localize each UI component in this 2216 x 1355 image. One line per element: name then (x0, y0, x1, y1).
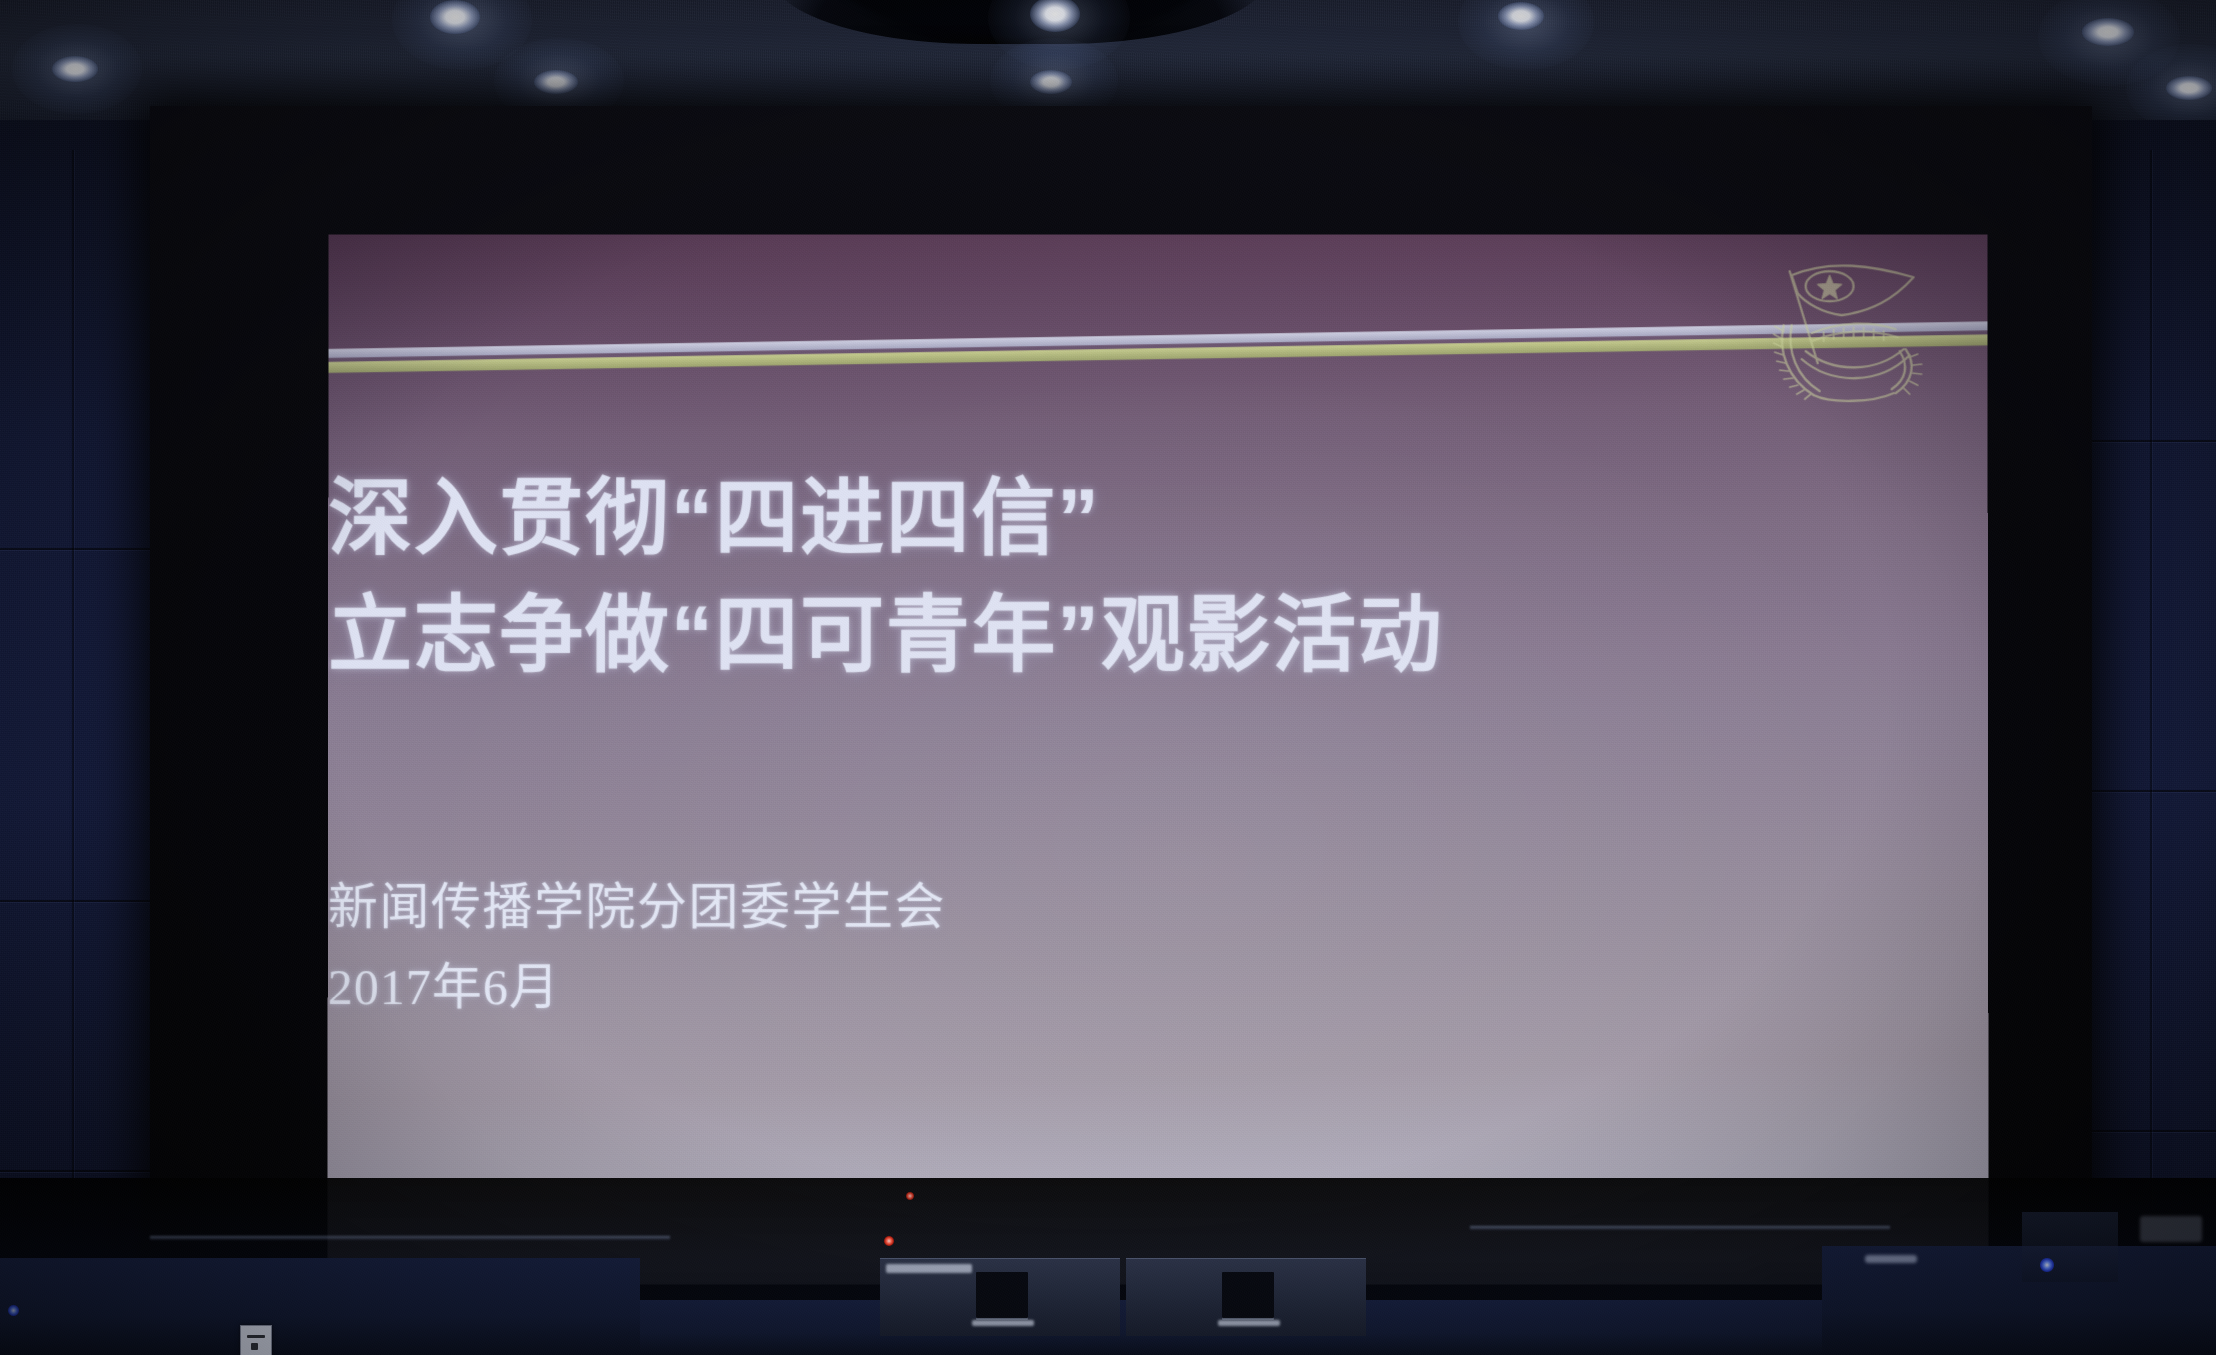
console-base-sheen (1218, 1320, 1280, 1326)
wall-seam (0, 1170, 152, 1172)
wall-switch-plate[interactable] (240, 1325, 272, 1355)
console-base-sheen (972, 1320, 1034, 1326)
switch-plate-slot (247, 1335, 265, 1338)
wall-seam (2092, 790, 2216, 792)
auditorium-photo: 深入贯彻“四进四信” 立志争做“四可青年”观影活动 新闻传播学院分团委学生会 2… (0, 0, 2216, 1355)
console-vent (1222, 1272, 1274, 1318)
wall-seam (0, 548, 152, 550)
communist-youth-league-emblem-icon (1767, 255, 1931, 405)
red-status-led (906, 1192, 914, 1200)
slide-title-block: 深入贯彻“四进四信” 立志争做“四可青年”观影活动 (328, 460, 1988, 695)
ribbon-band-olive (327, 334, 1988, 374)
slide-date: 2017年6月 (328, 947, 1989, 1019)
stage-speaker (2022, 1212, 2118, 1282)
projection-screen-surface: 深入贯彻“四进四信” 立志争做“四可青年”观影活动 新闻传播学院分团委学生会 2… (327, 234, 1988, 1284)
stage-skirt-left (0, 1258, 640, 1355)
wall-seam (0, 900, 152, 902)
screen-grain (327, 234, 1988, 1284)
switch-plate-slot (251, 1343, 258, 1350)
screen-hotspot (327, 234, 1988, 1284)
slide-byline-block: 新闻传播学院分团委学生会 2017年6月 (328, 869, 1989, 1019)
console-vent (976, 1272, 1028, 1318)
wall-seam (72, 150, 74, 1230)
slide-title-line-1: 深入贯彻“四进四信” (328, 460, 1988, 578)
red-status-led (884, 1236, 894, 1246)
projection-screen-frame: 深入贯彻“四进四信” 立志争做“四可青年”观影活动 新闻传播学院分团委学生会 2… (150, 106, 2092, 1322)
wall-seam (2092, 440, 2216, 442)
wall-seam (2150, 150, 2152, 1210)
ribbon-band-gap (327, 330, 1988, 363)
av-console-right[interactable] (1126, 1258, 1366, 1336)
wall-seam (2092, 1130, 2216, 1132)
ribbon-band-light (327, 321, 1988, 359)
slide-ribbon (327, 321, 1988, 374)
console-sheen (886, 1264, 972, 1273)
stage-edge-rail (150, 1236, 670, 1240)
slide-title-line-2: 立志争做“四可青年”观影活动 (328, 577, 1988, 695)
stage-edge-rail (1470, 1226, 1890, 1230)
blue-status-led (8, 1305, 19, 1316)
blue-status-led (2040, 1258, 2054, 1272)
av-console-left[interactable] (880, 1258, 1120, 1336)
equipment-sheen (1865, 1255, 1917, 1263)
slide-organization: 新闻传播学院分团委学生会 (328, 869, 1988, 947)
equipment-sheen (2140, 1216, 2202, 1242)
